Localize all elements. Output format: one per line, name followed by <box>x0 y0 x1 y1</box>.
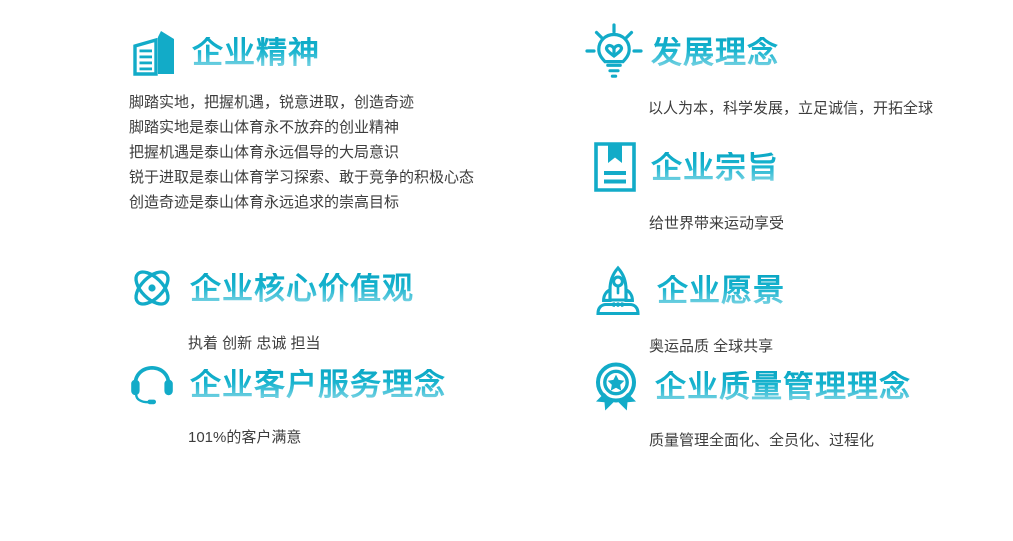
corporate-culture-board: 企业精神 脚踏实地，把握机遇，锐意进取，创造奇迹 脚踏实地是泰山体育永不放弃的创… <box>0 0 1013 541</box>
body-line: 脚踏实地是泰山体育永不放弃的创业精神 <box>129 115 474 140</box>
section-title: 企业客户服务理念 <box>190 369 446 400</box>
section-core-values: 企业核心价值观 执着 创新 忠诚 担当 <box>128 264 414 356</box>
section-body: 脚踏实地，把握机遇，锐意进取，创造奇迹 脚踏实地是泰山体育永不放弃的创业精神 把… <box>129 90 474 215</box>
body-line: 奥运品质 全球共享 <box>649 334 785 359</box>
lightbulb-heart-icon <box>583 22 645 82</box>
body-line: 执着 创新 忠诚 担当 <box>188 331 414 356</box>
section-title: 企业愿景 <box>657 275 785 306</box>
section-corporate-purpose: 企业宗旨 给世界带来运动享受 <box>593 141 784 236</box>
section-body: 给世界带来运动享受 <box>649 211 784 236</box>
headset-icon <box>128 361 176 407</box>
section-header: 发展理念 <box>583 22 933 82</box>
section-customer-service: 企业客户服务理念 101%的客户满意 <box>128 361 446 450</box>
section-title: 企业核心价值观 <box>190 273 414 304</box>
section-header: 企业客户服务理念 <box>128 361 446 407</box>
section-header: 企业精神 <box>128 26 474 78</box>
section-header: 企业愿景 <box>593 264 785 316</box>
body-line: 创造奇迹是泰山体育永远追求的崇高目标 <box>129 190 474 215</box>
section-quality-management: 企业质量管理理念 质量管理全面化、全员化、过程化 <box>593 361 911 453</box>
body-line: 脚踏实地，把握机遇，锐意进取，创造奇迹 <box>129 90 474 115</box>
body-line: 101%的客户满意 <box>188 425 446 450</box>
body-line: 质量管理全面化、全员化、过程化 <box>649 428 911 453</box>
medal-star-icon <box>593 361 643 411</box>
body-line: 以人为本，科学发展，立足诚信，开拓全球 <box>648 96 933 121</box>
body-line: 锐于进取是泰山体育学习探索、敢于竞争的积极心态 <box>129 165 474 190</box>
section-body: 执着 创新 忠诚 担当 <box>188 331 414 356</box>
section-body: 以人为本，科学发展，立足诚信，开拓全球 <box>648 96 933 121</box>
section-title: 企业精神 <box>192 37 320 68</box>
section-body: 质量管理全面化、全员化、过程化 <box>649 428 911 453</box>
rocket-icon <box>593 264 643 316</box>
section-body: 奥运品质 全球共享 <box>649 334 785 359</box>
office-building-icon <box>128 26 180 78</box>
atom-icon <box>128 264 176 312</box>
section-body: 101%的客户满意 <box>188 425 446 450</box>
section-title: 发展理念 <box>651 37 779 68</box>
body-line: 给世界带来运动享受 <box>649 211 784 236</box>
section-header: 企业核心价值观 <box>128 264 414 312</box>
section-title: 企业质量管理理念 <box>655 371 911 402</box>
section-title: 企业宗旨 <box>651 152 779 183</box>
book-bookmark-icon <box>593 141 637 193</box>
section-header: 企业质量管理理念 <box>593 361 911 411</box>
section-development-philosophy: 发展理念 以人为本，科学发展，立足诚信，开拓全球 <box>583 22 933 121</box>
section-corporate-vision: 企业愿景 奥运品质 全球共享 <box>593 264 785 359</box>
section-header: 企业宗旨 <box>593 141 784 193</box>
section-corporate-spirit: 企业精神 脚踏实地，把握机遇，锐意进取，创造奇迹 脚踏实地是泰山体育永不放弃的创… <box>128 26 474 215</box>
body-line: 把握机遇是泰山体育永远倡导的大局意识 <box>129 140 474 165</box>
